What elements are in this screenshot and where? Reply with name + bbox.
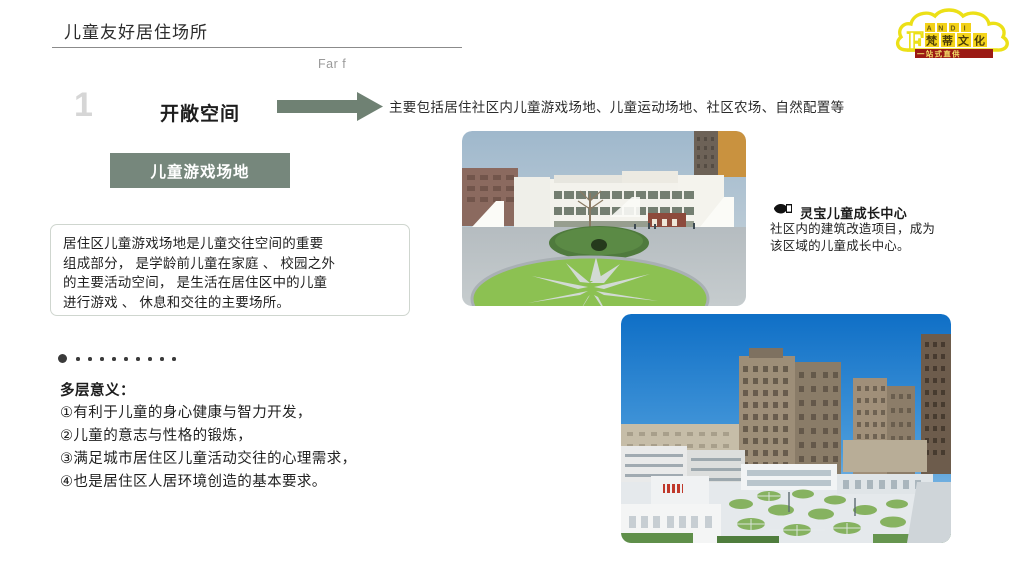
section-description: 主要包括居住社区内儿童游戏场地、儿童运动场地、社区农场、自然配置等	[389, 96, 844, 116]
meaning-item-1: ①有利于儿童的身心健康与智力开发，	[60, 402, 460, 425]
courtyard-playground-photo	[462, 131, 746, 306]
subsection-label: 儿童游戏场地	[110, 153, 290, 188]
caption-body: 社区内的建筑改造项目，成为 该区域的儿童成长中心。	[770, 221, 985, 255]
svg-text:N: N	[938, 26, 943, 33]
svg-text:化: 化	[974, 33, 985, 47]
description-line-2: 组成部分， 是学龄前儿童在家庭 、 校园之外	[63, 254, 397, 274]
divider-dot	[76, 357, 80, 361]
slide-canvas: 儿童友好居住场所 Far f F A N D I 梵	[0, 0, 1024, 575]
header-divider	[52, 47, 462, 48]
subsection-label-text: 儿童游戏场地	[150, 160, 249, 182]
pointing-hand-icon	[772, 202, 796, 216]
divider-dot	[100, 357, 104, 361]
header-subtitle: Far f	[318, 57, 346, 71]
residential-skyline-photo	[621, 314, 951, 543]
svg-text:梵: 梵	[926, 33, 938, 47]
divider-dot	[136, 357, 140, 361]
caption-heading: 灵宝儿童成长中心	[800, 203, 907, 222]
meaning-item-3: ③满足城市居住区儿童活动交往的心理需求，	[60, 448, 460, 471]
svg-text:D: D	[950, 26, 955, 33]
dotted-divider	[58, 350, 180, 360]
divider-dot	[88, 357, 92, 361]
divider-dot	[160, 357, 164, 361]
divider-dot	[112, 357, 116, 361]
caption-line-2: 该区域的儿童成长中心。	[770, 238, 985, 255]
description-line-3: 的主要活动空间， 是生活在居住区中的儿童	[63, 273, 397, 293]
svg-text:文: 文	[958, 33, 970, 47]
svg-text:A: A	[927, 26, 932, 33]
description-box: 居住区儿童游戏场地是儿童交往空间的重要 组成部分， 是学龄前儿童在家庭 、 校园…	[50, 224, 410, 316]
right-arrow-icon	[277, 91, 383, 122]
svg-text:一站式直供: 一站式直供	[917, 50, 961, 58]
divider-dot	[172, 357, 176, 361]
section-title: 开敞空间	[160, 99, 240, 126]
meaning-item-4: ④也是居住区人居环境创造的基本要求。	[60, 471, 460, 494]
fandi-culture-logo: F A N D I 梵 蒂 文 化	[893, 6, 1015, 58]
meaning-list: ①有利于儿童的身心健康与智力开发， ②儿童的意志与性格的锻炼， ③满足城市居住区…	[60, 402, 460, 494]
section-number: 1	[74, 88, 93, 122]
description-line-4: 进行游戏 、 休息和交往的主要场所。	[63, 293, 397, 313]
description-line-1: 居住区儿童游戏场地是儿童交往空间的重要	[63, 234, 397, 254]
divider-dot-large	[58, 354, 67, 363]
meaning-heading: 多层意义：	[60, 379, 135, 400]
svg-text:I: I	[964, 26, 966, 33]
divider-dot	[124, 357, 128, 361]
page-title: 儿童友好居住场所	[64, 18, 208, 43]
caption-line-1: 社区内的建筑改造项目，成为	[770, 221, 985, 238]
svg-text:蒂: 蒂	[942, 33, 953, 47]
meaning-item-2: ②儿童的意志与性格的锻炼，	[60, 425, 460, 448]
divider-dot	[148, 357, 152, 361]
